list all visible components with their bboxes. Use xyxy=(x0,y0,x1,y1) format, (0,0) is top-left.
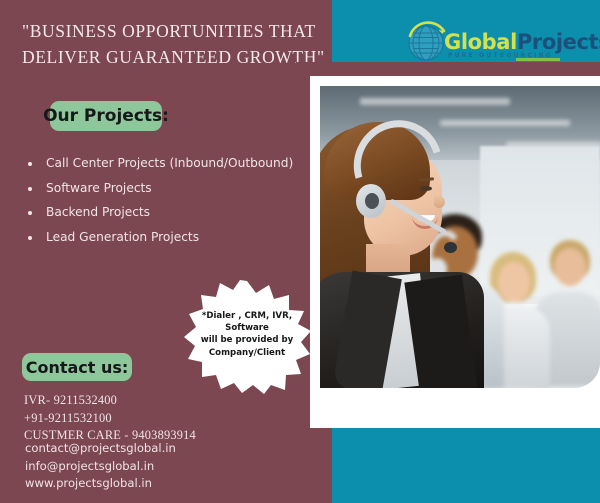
contact-website[interactable]: www.projectsglobal.in xyxy=(25,475,285,493)
photo-agent-nose xyxy=(434,196,445,208)
contact-email[interactable]: contact@projectsglobal.in xyxy=(25,440,285,458)
contact-phone-line: +91-9211532100 xyxy=(24,410,284,428)
our-projects-badge: Our Projects: xyxy=(50,101,162,131)
bullet-dot-icon xyxy=(28,236,32,240)
note-text: *Dialer , CRM, IVR, Software will be pro… xyxy=(195,310,299,359)
contact-web-block: contact@projectsglobal.in info@projectsg… xyxy=(25,440,285,493)
note-line-1: *Dialer , CRM, IVR, xyxy=(195,310,299,322)
call-center-photo xyxy=(320,86,600,388)
contact-email[interactable]: info@projectsglobal.in xyxy=(25,458,285,476)
list-item: Software Projects xyxy=(24,181,324,195)
logo-underline-bar xyxy=(516,58,560,61)
list-item: Lead Generation Projects xyxy=(24,230,324,244)
list-item-label: Software Projects xyxy=(46,181,152,195)
note-line-4: Company/Client xyxy=(195,347,299,359)
headset-earcup-inner xyxy=(365,193,379,209)
list-item-label: Backend Projects xyxy=(46,205,150,219)
logo-word-projects: Projects xyxy=(517,30,600,54)
list-item: Call Center Projects (Inbound/Outbound) xyxy=(24,156,324,170)
logo-word-global: Global xyxy=(444,30,517,54)
list-item-label: Lead Generation Projects xyxy=(46,230,199,244)
headline-line-1: "BUSINESS OPPORTUNITIES THAT xyxy=(22,18,322,44)
note-line-2: Software xyxy=(195,322,299,334)
note-starburst-badge: *Dialer , CRM, IVR, Software will be pro… xyxy=(183,280,311,394)
bullet-dot-icon xyxy=(28,162,32,166)
contact-phone-line: IVR- 9211532400 xyxy=(24,392,284,410)
logo-wordmark: GlobalProjects xyxy=(444,30,600,54)
flyer-canvas: "BUSINESS OPPORTUNITIES THAT DELIVER GUA… xyxy=(0,0,600,503)
bullet-dot-icon xyxy=(28,211,32,215)
photo-foreground-agent xyxy=(320,86,470,388)
bullet-dot-icon xyxy=(28,187,32,191)
list-item: Backend Projects xyxy=(24,205,324,219)
projects-list: Call Center Projects (Inbound/Outbound) … xyxy=(24,156,324,254)
list-item-label: Call Center Projects (Inbound/Outbound) xyxy=(46,156,293,170)
contact-us-badge: Contact us: xyxy=(22,353,132,381)
headset-microphone-icon xyxy=(444,242,457,253)
note-line-3: will be provided by xyxy=(195,334,299,346)
headline-line-2: DELIVER GUARANTEED GROWTH" xyxy=(22,44,322,70)
contact-phone-block: IVR- 9211532400 +91-9211532100 CUSTMER C… xyxy=(24,392,284,445)
headline: "BUSINESS OPPORTUNITIES THAT DELIVER GUA… xyxy=(22,18,322,71)
